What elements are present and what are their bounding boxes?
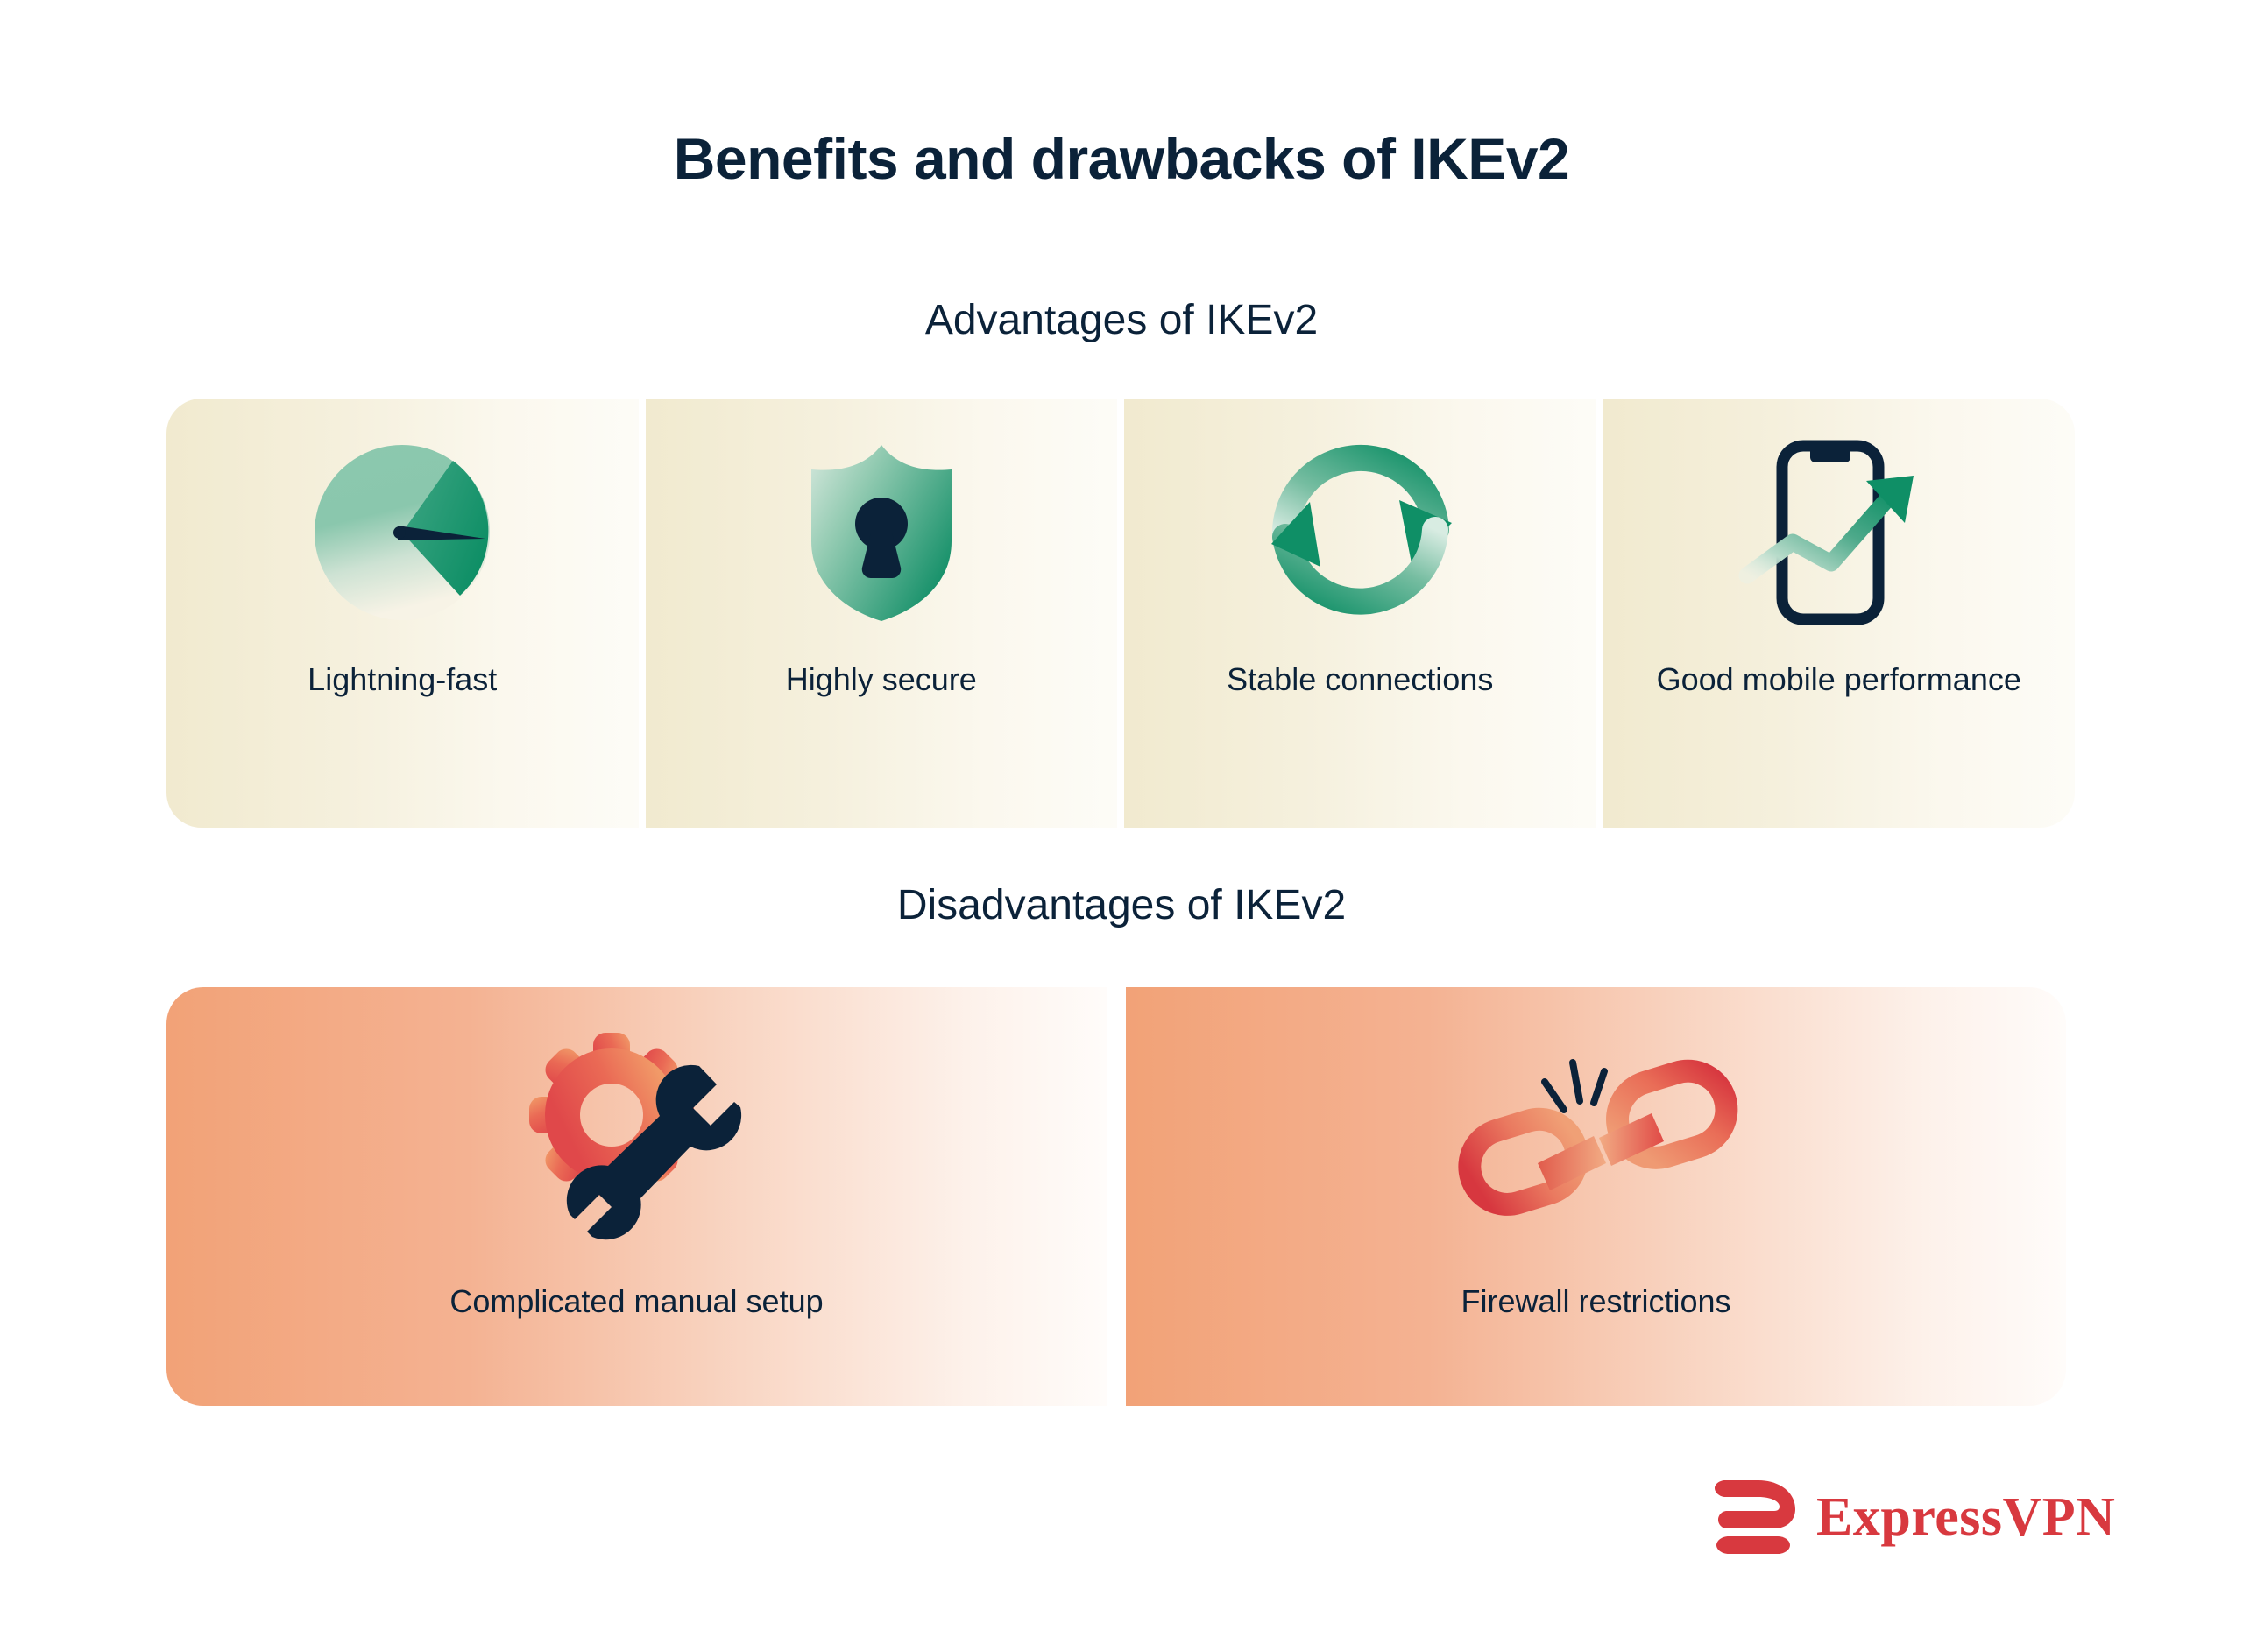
- disadvantage-card-label: Complicated manual setup: [182, 1283, 1091, 1320]
- phone-growth-chart-icon: [1603, 432, 2076, 633]
- disadvantages-heading: Disadvantages of IKEv2: [0, 885, 2243, 927]
- advantages-heading: Advantages of IKEv2: [0, 300, 2243, 342]
- advantage-card-stable-connections: Stable connections: [1124, 399, 1596, 828]
- brand-name: ExpressVPN: [1816, 1490, 2115, 1544]
- advantage-card-label: Stable connections: [1140, 661, 1581, 698]
- advantage-card-good-mobile-performance: Good mobile performance: [1603, 399, 2076, 828]
- refresh-loop-icon: [1124, 432, 1596, 633]
- advantage-card-label: Good mobile performance: [1619, 661, 2060, 698]
- advantage-card-highly-secure: Highly secure: [646, 399, 1118, 828]
- expressvpn-e-logo-icon: [1713, 1480, 1797, 1554]
- page-title: Benefits and drawbacks of IKEv2: [0, 130, 2243, 187]
- advantages-card-row: Lightning-fast Highl: [166, 399, 2075, 828]
- advantage-card-label: Highly secure: [662, 661, 1102, 698]
- disadvantage-card-label: Firewall restrictions: [1142, 1283, 2050, 1320]
- brand-logo: ExpressVPN: [1713, 1480, 2115, 1554]
- disadvantage-card-complicated-manual-setup: Complicated manual setup: [166, 987, 1107, 1406]
- advantage-card-lightning-fast: Lightning-fast: [166, 399, 639, 828]
- broken-chain-icon: [1126, 1027, 2066, 1246]
- infographic-page: Benefits and drawbacks of IKEv2 Advantag…: [0, 0, 2243, 1652]
- shield-keyhole-icon: [646, 432, 1118, 633]
- speedometer-icon: [166, 432, 639, 633]
- disadvantages-card-row: Complicated manual setup: [166, 987, 2066, 1406]
- advantage-card-label: Lightning-fast: [182, 661, 623, 698]
- disadvantage-card-firewall-restrictions: Firewall restrictions: [1126, 987, 2066, 1406]
- gear-wrench-icon: [166, 1027, 1107, 1246]
